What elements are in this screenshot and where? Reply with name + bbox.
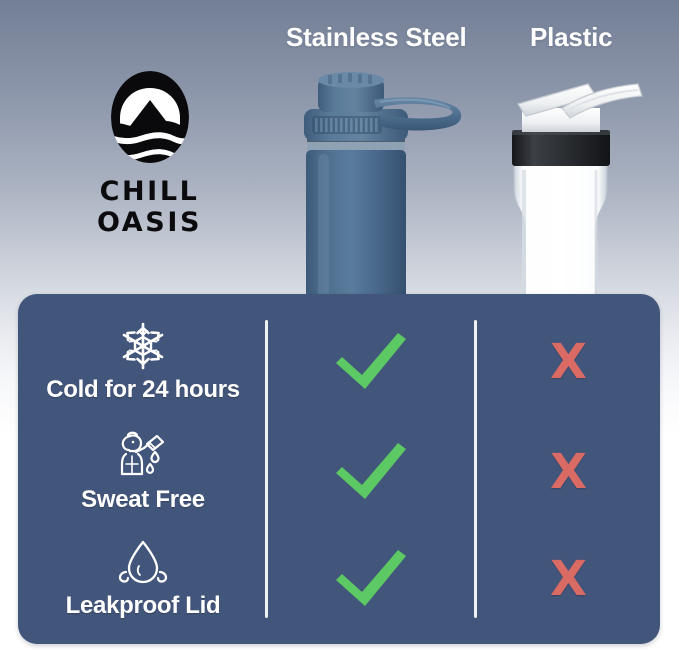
comparison-panel: Cold for 24 hours X: [18, 294, 660, 644]
feature-cell-leakproof: Leakproof Lid: [24, 522, 262, 636]
snowflake-icon: [117, 320, 169, 372]
comparison-row: Sweat Free X: [18, 415, 660, 529]
feature-label: Sweat Free: [81, 486, 205, 514]
plastic-result-leakproof: X: [477, 522, 660, 636]
brand-logo: CHILL OASIS: [42, 68, 257, 238]
person-drinking-sweat-icon: [116, 430, 170, 482]
column-header-stainless-steel: Stainless Steel: [286, 22, 467, 53]
check-mark-icon: [332, 548, 410, 610]
x-mark-icon: X: [550, 338, 587, 386]
plastic-result-sweat: X: [477, 415, 660, 529]
infographic-canvas: Stainless Steel Plastic: [0, 0, 679, 662]
stainless-steel-result-leakproof: [268, 522, 474, 636]
feature-label: Leakproof Lid: [66, 592, 221, 620]
comparison-row: Cold for 24 hours X: [18, 305, 660, 419]
x-mark-icon: X: [550, 555, 587, 603]
brand-name-text: CHILL OASIS: [42, 176, 257, 238]
mountain-waves-circle-logo-icon: [104, 68, 196, 166]
comparison-row: Leakproof Lid X: [18, 522, 660, 636]
x-mark-icon: X: [550, 448, 587, 496]
water-droplet-icon: [116, 538, 170, 588]
feature-label: Cold for 24 hours: [46, 376, 240, 404]
plastic-bottle-image: [492, 78, 657, 308]
feature-cell-cold: Cold for 24 hours: [24, 305, 262, 419]
stainless-steel-result-sweat: [268, 415, 474, 529]
check-mark-icon: [332, 441, 410, 503]
stainless-steel-bottle-image: [288, 62, 478, 307]
feature-cell-sweat: Sweat Free: [24, 415, 262, 529]
plastic-result-cold: X: [477, 305, 660, 419]
check-mark-icon: [332, 331, 410, 393]
stainless-steel-result-cold: [268, 305, 474, 419]
column-header-plastic: Plastic: [530, 22, 612, 53]
